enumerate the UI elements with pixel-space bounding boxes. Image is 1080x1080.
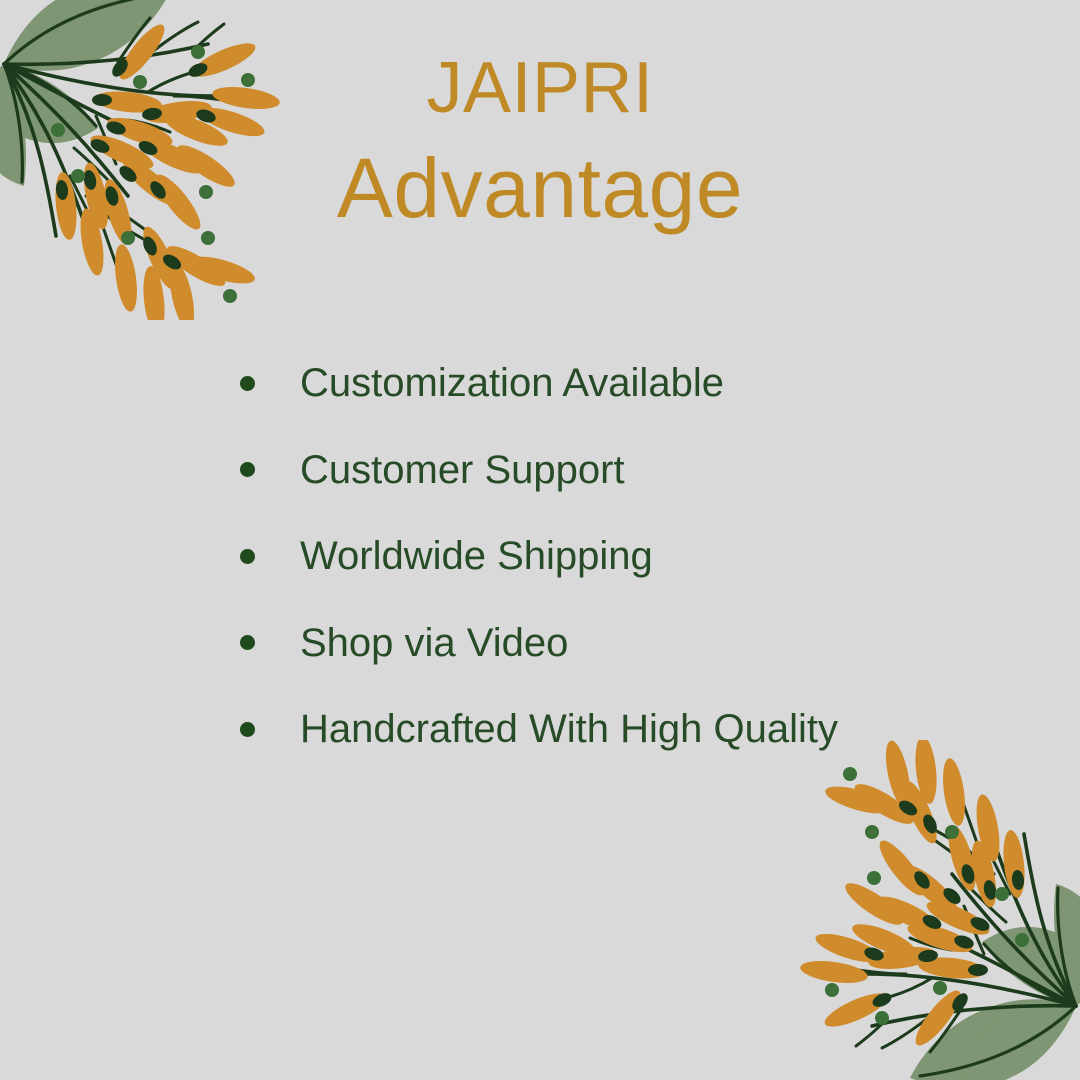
- page-title: JAIPRI Advantage: [0, 40, 1080, 240]
- bullet-icon: [240, 376, 255, 391]
- list-item-label: Worldwide Shipping: [300, 533, 653, 579]
- list-item-label: Customer Support: [300, 447, 625, 493]
- poster-canvas: JAIPRI Advantage Customization Available…: [0, 0, 1080, 1080]
- berry-dots: [825, 767, 1029, 1025]
- bullet-icon: [240, 462, 255, 477]
- botanical-sprig-bottom-right-icon: [780, 740, 1080, 1080]
- leaf-veins: [920, 888, 1076, 1076]
- list-item-label: Customization Available: [300, 360, 724, 406]
- list-item: Worldwide Shipping: [240, 513, 1000, 600]
- bullet-icon: [240, 635, 255, 650]
- list-item-label: Handcrafted With High Quality: [300, 706, 838, 752]
- list-item: Handcrafted With High Quality: [240, 686, 1000, 773]
- list-item-label: Shop via Video: [300, 620, 568, 666]
- advantage-list: Customization Available Customer Support…: [240, 340, 1000, 773]
- seed-pods: [799, 740, 1028, 1051]
- list-item: Shop via Video: [240, 600, 1000, 687]
- leaf-cluster: [910, 884, 1080, 1080]
- list-item: Customer Support: [240, 427, 1000, 514]
- bullet-icon: [240, 549, 255, 564]
- pod-tips: [863, 798, 1025, 1014]
- bullet-icon: [240, 722, 255, 737]
- title-word: Advantage: [0, 136, 1080, 240]
- list-item: Customization Available: [240, 340, 1000, 427]
- brand-name: JAIPRI: [0, 40, 1080, 136]
- stem-group: [856, 788, 1076, 1052]
